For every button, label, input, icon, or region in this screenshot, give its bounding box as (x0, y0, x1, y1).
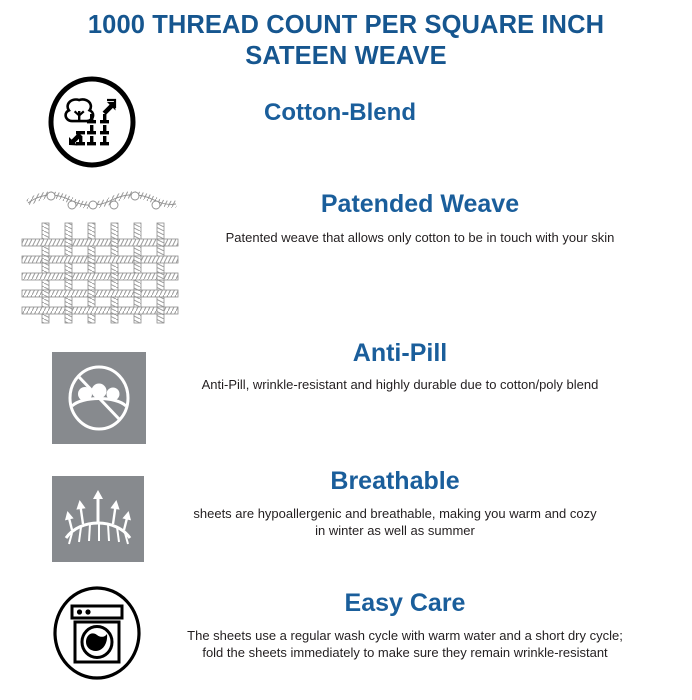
breathable-airflow-icon (52, 476, 144, 562)
feature-text-cotton-blend: Cotton-Blend (150, 100, 530, 126)
feature-heading-cotton-blend: Cotton-Blend (150, 100, 530, 126)
feature-body-easy-care: The sheets use a regular wash cycle with… (150, 627, 660, 661)
feature-text-anti-pill: Anti-Pill Anti-Pill, wrinkle-resistant a… (145, 340, 655, 393)
woven-fabric-grid-icon (20, 183, 180, 325)
feature-text-patented-weave: Patended Weave Patented weave that allow… (160, 191, 680, 246)
feature-body-line: sheets are hypoallergenic and breathable… (145, 505, 645, 522)
feature-heading-breathable: Breathable (145, 468, 645, 496)
feature-text-easy-care: Easy Care The sheets use a regular wash … (150, 590, 660, 661)
feature-body-line: Patented weave that allows only cotton t… (160, 229, 680, 246)
feature-body-line: The sheets use a regular wash cycle with… (150, 627, 660, 644)
feature-body-patented-weave: Patented weave that allows only cotton t… (160, 229, 680, 246)
no-pilling-icon (52, 352, 146, 444)
feature-heading-easy-care: Easy Care (150, 590, 660, 618)
feature-row-anti-pill: Anti-Pill Anti-Pill, wrinkle-resistant a… (0, 340, 692, 450)
feature-row-easy-care: Easy Care The sheets use a regular wash … (0, 585, 692, 685)
feature-text-breathable: Breathable sheets are hypoallergenic and… (145, 468, 645, 539)
feature-heading-anti-pill: Anti-Pill (145, 340, 655, 368)
feature-body-line: fold the sheets immediately to make sure… (150, 644, 660, 661)
feature-row-cotton-blend: Cotton-Blend (0, 76, 692, 176)
feature-body-breathable: sheets are hypoallergenic and breathable… (145, 505, 645, 539)
feature-body-line: Anti-Pill, wrinkle-resistant and highly … (145, 376, 655, 393)
cotton-boll-weave-circle-icon (46, 76, 138, 168)
feature-row-patented-weave: Patended Weave Patented weave that allow… (0, 183, 692, 325)
page-title: 1000 THREAD COUNT PER SQUARE INCH SATEEN… (0, 10, 692, 72)
feature-heading-patented-weave: Patended Weave (160, 191, 680, 219)
feature-body-line: in winter as well as summer (145, 522, 645, 539)
washing-machine-icon (50, 585, 144, 681)
infographic-page: 1000 THREAD COUNT PER SQUARE INCH SATEEN… (0, 0, 692, 700)
feature-body-anti-pill: Anti-Pill, wrinkle-resistant and highly … (145, 376, 655, 393)
page-title-line-2: SATEEN WEAVE (0, 41, 692, 72)
feature-row-breathable: Breathable sheets are hypoallergenic and… (0, 468, 692, 568)
page-title-line-1: 1000 THREAD COUNT PER SQUARE INCH (0, 10, 692, 41)
